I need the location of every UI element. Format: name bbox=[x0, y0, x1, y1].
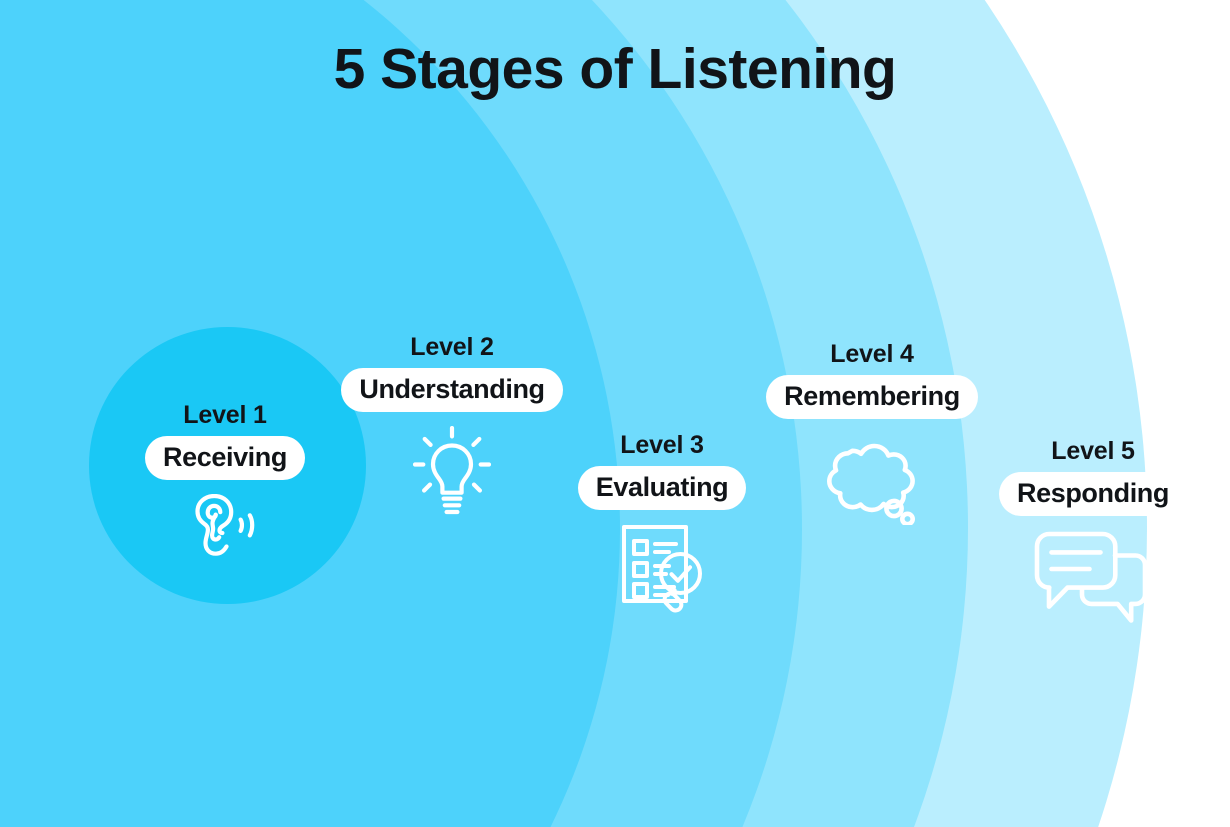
stage-name-pill: Responding bbox=[999, 472, 1187, 516]
page-title: 5 Stages of Listening bbox=[0, 38, 1230, 101]
stage-level-label: Level 2 bbox=[410, 333, 493, 362]
thought-cloud-icon bbox=[822, 433, 922, 525]
stage-level-label: Level 4 bbox=[830, 340, 913, 369]
stage-level-5[interactable]: Level 5 Responding bbox=[943, 437, 1230, 626]
checklist-magnifier-icon bbox=[620, 524, 704, 614]
stage-name-pill: Evaluating bbox=[578, 466, 747, 510]
speech-bubbles-icon bbox=[1029, 530, 1157, 626]
lightbulb-icon bbox=[413, 426, 491, 520]
stage-level-label: Level 5 bbox=[1051, 437, 1134, 466]
stage-level-label: Level 1 bbox=[183, 401, 266, 430]
stage-name-pill: Understanding bbox=[341, 368, 562, 412]
ear-listening-icon bbox=[190, 494, 260, 556]
stage-level-label: Level 3 bbox=[620, 431, 703, 460]
infographic-canvas: 5 Stages of Listening Level 1 Receiving … bbox=[0, 0, 1230, 827]
stage-name-pill: Receiving bbox=[145, 436, 305, 480]
stage-name-pill: Remembering bbox=[766, 375, 978, 419]
